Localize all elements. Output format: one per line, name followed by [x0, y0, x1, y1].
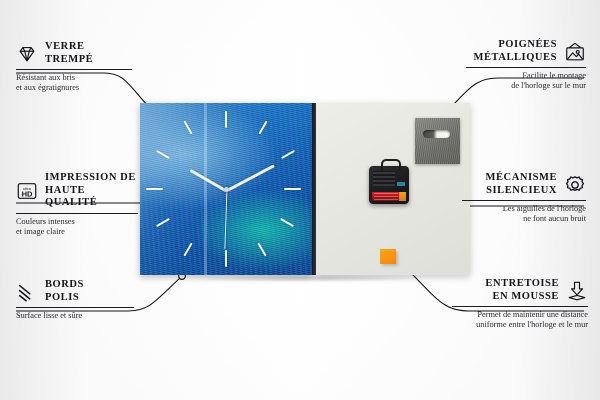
diamond-icon [16, 43, 38, 65]
title-line: POLIS [45, 292, 84, 305]
clock-back-panel [316, 103, 470, 275]
callout-subtitle: Surface lisse et sûre [16, 311, 134, 321]
tick-mark [280, 218, 294, 227]
tick-mark [225, 250, 227, 267]
callout-title: BORDS POLIS [45, 279, 84, 304]
callout-title: POIGNÉES MÉTALLIQUES [474, 39, 557, 64]
callout-title: ENTRETOISE EN MOUSSE [485, 278, 559, 303]
subtitle-line: de l'horloge sur le mur [466, 81, 586, 91]
infographic-canvas: VERRE TREMPÉ Résistant aux bris et aux é… [0, 0, 600, 400]
title-line: IMPRESSION DE [45, 172, 138, 185]
minute-hand [226, 164, 275, 192]
callout-rule [16, 69, 132, 70]
icon-text-hd: HD [22, 189, 33, 198]
title-line: SILENCIEUX [486, 185, 557, 198]
callout-rule [462, 200, 586, 201]
second-hand [224, 191, 227, 249]
callout-bords-polis: BORDS POLIS Surface lisse et sûre [16, 279, 134, 321]
tick-mark [225, 111, 227, 128]
title-line: MÉTALLIQUES [474, 52, 557, 65]
gear-icon [564, 174, 586, 196]
tick-mark [146, 188, 163, 190]
hands-hub [224, 187, 229, 192]
subtitle-line: Permet de maintenir une distance [452, 310, 588, 320]
callout-header: BORDS POLIS [16, 279, 134, 304]
tick-mark [257, 243, 266, 257]
tick-mark [183, 121, 192, 135]
callout-header: ENTRETOISE EN MOUSSE [452, 278, 588, 303]
mechanism-ridges [373, 171, 395, 186]
title-line: POIGNÉES [474, 39, 557, 52]
callout-rule [16, 213, 138, 214]
callout-header: ultra HD IMPRESSION DE HAUTE QUALITÉ [16, 172, 138, 210]
callout-rule [452, 306, 588, 307]
clock-mechanism [369, 166, 409, 204]
title-line: BORDS [45, 279, 84, 292]
callout-header: MÉCANISME SILENCIEUX [462, 172, 586, 197]
callout-subtitle: Permet de maintenir une distance uniform… [452, 310, 588, 330]
foam-spacer-icon [566, 280, 588, 302]
tick-mark [281, 150, 295, 159]
subtitle-line: Résistant aux bris [16, 73, 132, 83]
hanger-plate [415, 118, 460, 164]
callout-subtitle: Couleurs intenses et image claire [16, 217, 138, 237]
mechanism-hook [381, 159, 401, 171]
title-line: EN MOUSSE [485, 291, 559, 304]
subtitle-line: et image claire [16, 227, 138, 237]
product-image [140, 103, 470, 275]
tick-mark [258, 121, 267, 135]
mechanism-chip [397, 182, 405, 186]
ultra-hd-icon: ultra HD [16, 180, 38, 202]
title-line: VERRE [45, 41, 93, 54]
glass-reflection [140, 103, 312, 275]
battery [372, 192, 406, 201]
callout-rule [466, 67, 586, 68]
title-line: HAUTE QUALITÉ [45, 185, 138, 210]
tick-mark [183, 243, 192, 257]
callout-title: IMPRESSION DE HAUTE QUALITÉ [45, 172, 138, 210]
callout-entretoise-en-mousse: ENTRETOISE EN MOUSSE Permet de maintenir… [452, 278, 588, 330]
subtitle-line: ne font aucun bruit [462, 214, 586, 224]
subtitle-line: Facilite le montage [466, 71, 586, 81]
callout-title: VERRE TREMPÉ [45, 41, 93, 66]
foam-spacer [380, 249, 396, 264]
callout-header: VERRE TREMPÉ [16, 41, 132, 66]
battery-label [374, 193, 398, 200]
title-line: ENTRETOISE [485, 278, 559, 291]
subtitle-line: uniforme entre l'horloge et le mur [452, 320, 588, 330]
hanger-keyhole-slot [423, 130, 450, 138]
subtitle-line: Les aiguilles de l'horloge [462, 204, 586, 214]
callout-subtitle: Résistant aux bris et aux égratignures [16, 73, 132, 93]
callout-mecanisme-silencieux: MÉCANISME SILENCIEUX Les aiguilles de l'… [462, 172, 586, 224]
tick-mark [156, 150, 170, 159]
subtitle-line: Couleurs intenses [16, 217, 138, 227]
callout-impression-haute-qualite: ultra HD IMPRESSION DE HAUTE QUALITÉ Cou… [16, 172, 138, 237]
title-line: TREMPÉ [45, 54, 93, 67]
subtitle-line: et aux égratignures [16, 83, 132, 93]
tick-mark [156, 218, 170, 227]
wall-mount-icon [564, 41, 586, 63]
title-line: MÉCANISME [486, 172, 557, 185]
subtitle-line: Surface lisse et sûre [16, 311, 134, 321]
hour-hand [189, 169, 227, 193]
callout-subtitle: Facilite le montage de l'horloge sur le … [466, 71, 586, 91]
callout-rule [16, 307, 134, 308]
tick-mark [284, 188, 301, 190]
callout-title: MÉCANISME SILENCIEUX [486, 172, 557, 197]
callout-verre-trempe: VERRE TREMPÉ Résistant aux bris et aux é… [16, 41, 132, 93]
polished-edges-icon [16, 281, 38, 303]
callout-poignees-metalliques: POIGNÉES MÉTALLIQUES Facilite le montage… [466, 39, 586, 91]
clock-front-face [140, 103, 312, 275]
callout-subtitle: Les aiguilles de l'horloge ne font aucun… [462, 204, 586, 224]
callout-header: POIGNÉES MÉTALLIQUES [466, 39, 586, 64]
